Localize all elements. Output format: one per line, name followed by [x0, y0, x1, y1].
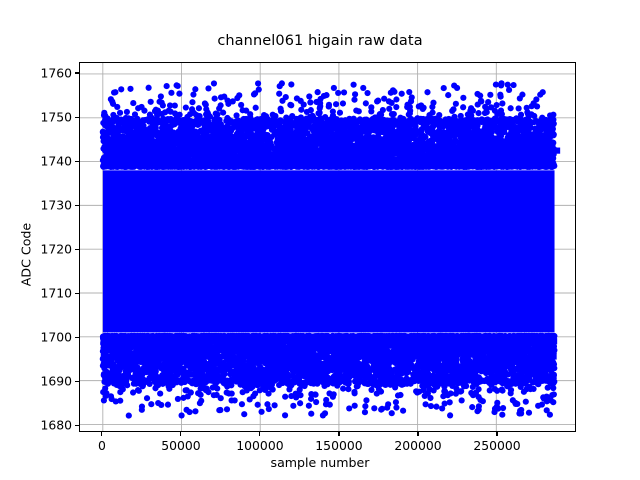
figure-canvas: channel061 higain raw data 1680169017001… [0, 0, 640, 480]
x-tick-mark [259, 432, 260, 436]
x-tick-mark [338, 432, 339, 436]
x-tick-label: 250000 [473, 438, 520, 453]
x-tick-mark [180, 432, 181, 436]
x-tick-label: 100000 [236, 438, 283, 453]
y-tick-mark [75, 249, 79, 250]
y-tick-mark [75, 425, 79, 426]
y-tick-mark [75, 293, 79, 294]
y-axis-label: ADC Code [19, 175, 34, 335]
y-tick-mark [75, 117, 79, 118]
y-tick-label: 1760 [12, 66, 72, 81]
x-tick-label: 150000 [315, 438, 362, 453]
scatter-points [80, 63, 575, 431]
x-tick-label: 0 [98, 438, 106, 453]
x-tick-mark [496, 432, 497, 436]
chart-title: channel061 higain raw data [0, 33, 640, 49]
y-tick-label: 1690 [12, 374, 72, 389]
x-tick-mark [101, 432, 102, 436]
x-axis-label: sample number [0, 455, 640, 470]
y-tick-mark [75, 72, 79, 73]
y-tick-label: 1680 [12, 418, 72, 433]
y-tick-label: 1750 [12, 110, 72, 125]
x-tick-mark [417, 432, 418, 436]
y-tick-label: 1740 [12, 154, 72, 169]
y-tick-mark [75, 161, 79, 162]
x-tick-label: 50000 [161, 438, 200, 453]
x-tick-label: 200000 [394, 438, 441, 453]
y-tick-mark [75, 381, 79, 382]
y-tick-mark [75, 337, 79, 338]
plot-area [79, 62, 576, 432]
y-tick-mark [75, 205, 79, 206]
